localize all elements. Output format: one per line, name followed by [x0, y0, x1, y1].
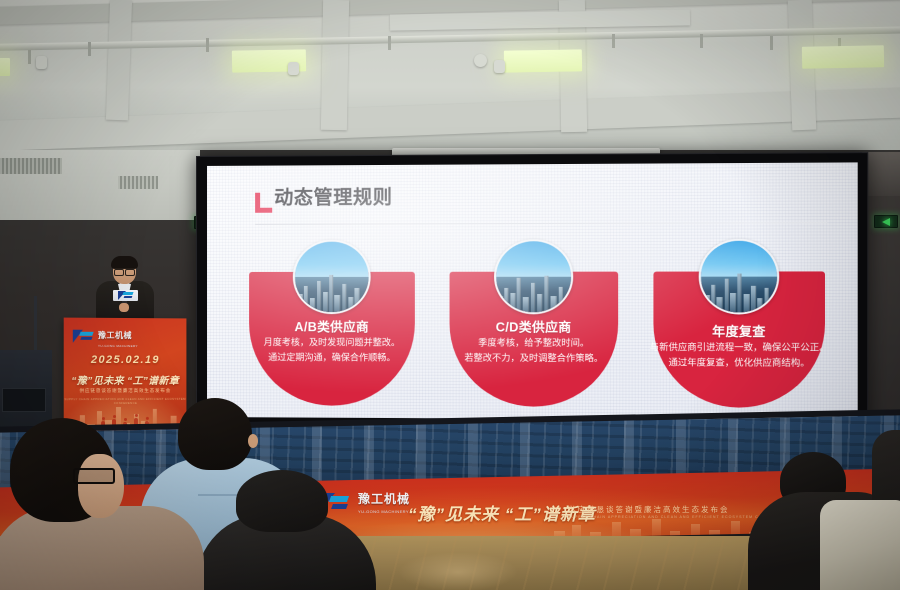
card-title: A/B类供应商 — [249, 316, 415, 335]
podium-logo: 豫工机械 YU-GONG MACHINERY — [73, 325, 138, 348]
card-line: 若整改不力，及时调整合作策略。 — [452, 350, 617, 366]
card-title: C/D类供应商 — [450, 316, 619, 336]
ceiling-panel-light — [802, 45, 884, 68]
ceiling-dome-camera — [474, 54, 487, 67]
city-skyline-photo — [293, 240, 371, 315]
slide-card: 年度复查 与新供应商引进流程一致，确保公平公正。 通过年度复查，优化供应商结构。 — [653, 239, 825, 408]
glasses-icon — [114, 268, 135, 274]
podium-slogan: “豫”见未来 “工”谱新章 — [64, 372, 187, 387]
exit-arrow-icon — [882, 218, 890, 226]
company-logo-icon — [118, 291, 134, 300]
card-line: 季度考核，给予整改时间。 — [452, 335, 617, 350]
av-stand-pole — [34, 296, 37, 356]
av-equipment-box — [2, 388, 46, 412]
ceiling-panel-light — [504, 49, 582, 72]
card-line: 月度考核，及时发现问题并整改。 — [251, 335, 413, 350]
mic-flag-logo — [113, 290, 138, 301]
audience-member — [196, 470, 374, 590]
chair-back — [820, 500, 900, 590]
ceiling — [0, 0, 900, 168]
ceiling-speaker — [36, 56, 47, 69]
card-body: 与新供应商引进流程一致，确保公平公正。 通过年度复查，优化供应商结构。 — [647, 340, 831, 371]
card-line: 通过定期沟通，确保合作顺畅。 — [251, 350, 413, 365]
ceiling-panel-light — [0, 58, 10, 76]
slide-card: A/B类供应商 月度考核，及时发现问题并整改。 通过定期沟通，确保合作顺畅。 — [249, 240, 415, 407]
card-line: 与新供应商引进流程一致，确保公平公正。 — [647, 340, 831, 356]
company-logo-icon — [73, 330, 94, 343]
title-divider — [255, 222, 827, 225]
glasses-icon — [73, 468, 115, 484]
slide-card: C/D类供应商 季度考核，给予整改时间。 若整改不力，及时调整合作策略。 — [450, 239, 619, 407]
podium-date: 2025.02.19 — [64, 354, 187, 366]
city-skyline-photo — [699, 239, 780, 315]
wall-vent-strip — [0, 158, 62, 174]
podium-logo-name-en: YU-GONG MACHINERY — [98, 344, 138, 348]
city-skyline-photo — [494, 239, 573, 314]
slide-title-group: 动态管理规则 — [255, 188, 392, 213]
slide-cards: A/B类供应商 月度考核，及时发现问题并整改。 通过定期沟通，确保合作顺畅。 — [249, 239, 825, 408]
ceiling-speaker — [494, 60, 505, 73]
card-line: 通过年度复查，优化供应商结构。 — [647, 355, 831, 371]
exit-sign-icon — [874, 215, 898, 228]
card-title: 年度复查 — [653, 321, 825, 341]
podium-logo-name: 豫工机械 — [98, 331, 132, 340]
card-body: 季度考核，给予整改时间。 若整改不力，及时调整合作策略。 — [452, 335, 617, 366]
page-title: 动态管理规则 — [274, 188, 392, 213]
projection-screen-bezel: 动态管理规则 — [196, 152, 868, 434]
ceiling-speaker — [288, 62, 299, 75]
conference-photo-scene: 动态管理规则 — [0, 0, 900, 590]
card-body: 月度考核，及时发现问题并整改。 通过定期沟通，确保合作顺畅。 — [251, 335, 413, 365]
presenter — [92, 256, 158, 322]
title-corner-accent-icon — [255, 189, 272, 213]
presenter-hand — [119, 303, 129, 312]
wall-vent — [118, 176, 158, 189]
ceiling-rail — [0, 26, 900, 51]
slide-surface: 动态管理规则 — [207, 162, 858, 420]
podium-subtitle: 供应链恳谈答谢暨廉洁高效生态发布会 — [64, 388, 187, 394]
floor-pattern — [398, 552, 518, 590]
audience-member — [0, 418, 204, 590]
